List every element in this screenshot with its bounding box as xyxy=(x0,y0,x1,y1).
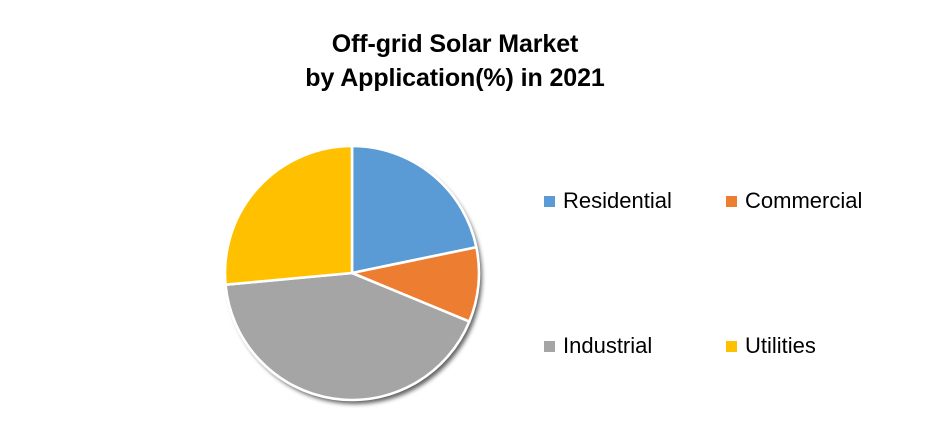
legend-label: Utilities xyxy=(745,335,816,357)
legend-label: Industrial xyxy=(563,335,652,357)
legend-label: Commercial xyxy=(745,190,862,212)
pie-slice-utilities[interactable] xyxy=(225,146,352,285)
legend-label: Residential xyxy=(563,190,672,212)
legend-swatch-icon xyxy=(726,341,737,352)
chart-title: Off-grid Solar Market by Application(%) … xyxy=(0,28,910,95)
chart-title-line-1: Off-grid Solar Market xyxy=(0,28,910,62)
legend-row: IndustrialUtilities xyxy=(536,331,926,361)
legend-row: ResidentialCommercial xyxy=(536,186,926,216)
legend-item-industrial[interactable]: Industrial xyxy=(544,331,652,361)
legend-swatch-icon xyxy=(726,196,737,207)
chart-title-line-2: by Application(%) in 2021 xyxy=(0,62,910,96)
legend-item-utilities[interactable]: Utilities xyxy=(726,331,816,361)
pie-chart: Off-grid Solar Market by Application(%) … xyxy=(0,0,940,448)
pie-slices xyxy=(225,146,479,400)
pie-svg xyxy=(205,130,505,420)
legend-item-residential[interactable]: Residential xyxy=(544,186,672,216)
legend-item-commercial[interactable]: Commercial xyxy=(726,186,862,216)
plot-area xyxy=(205,130,505,420)
chart-legend: ResidentialCommercialIndustrialUtilities xyxy=(536,176,926,376)
legend-swatch-icon xyxy=(544,196,555,207)
legend-swatch-icon xyxy=(544,341,555,352)
